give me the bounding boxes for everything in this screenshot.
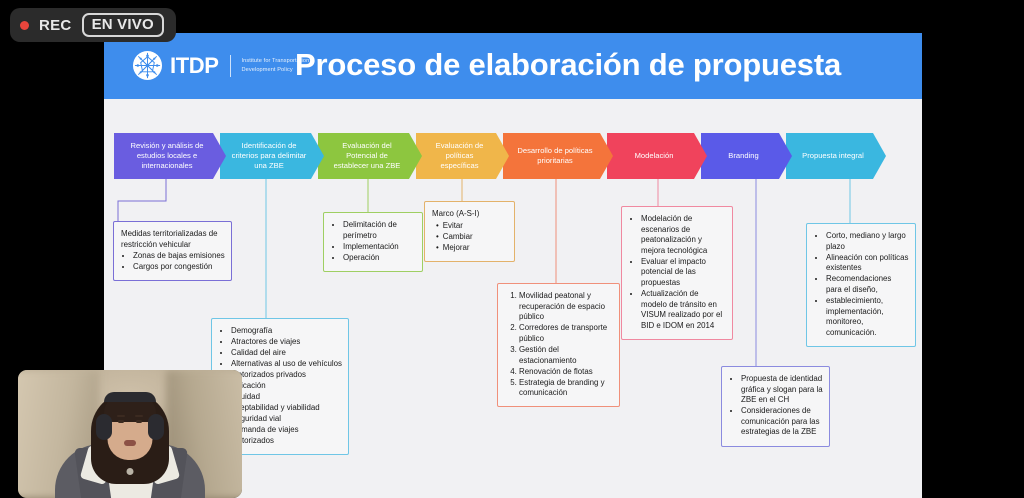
- list-item: Consideraciones de comunicación para las…: [741, 406, 823, 438]
- list-item: Alineación con políticas existentes: [826, 253, 909, 274]
- list-item: Alternativas al uso de vehículos motoriz…: [231, 359, 342, 380]
- detail-box-list: Zonas de bajas emisionesCargos por conge…: [121, 251, 225, 273]
- list-item: Zonas de bajas emisiones: [133, 251, 225, 262]
- list-item: Estrategia de branding y comunicación: [519, 378, 613, 399]
- headphones-band-icon: [104, 392, 156, 402]
- list-item: Aceptabilidad y viabilidad: [231, 403, 342, 414]
- detail-box-list: Movilidad peatonal y recuperación de esp…: [505, 291, 613, 399]
- process-step-label: Desarrollo de políticas prioritarias: [513, 146, 597, 166]
- detail-box-list: Modelación de escenarios de peatonalizac…: [629, 214, 726, 332]
- list-item: Corto, mediano y largo plazo: [826, 231, 909, 252]
- process-step-2: Identificación de criterios para delimit…: [220, 133, 324, 179]
- process-step-8: Propuesta integral: [786, 133, 886, 179]
- list-item: Propuesta de identidad gráfica y slogan …: [741, 374, 823, 406]
- process-step-5: Desarrollo de políticas prioritarias: [503, 133, 613, 179]
- list-item: Evitar: [436, 221, 508, 232]
- process-step-label: Revisión y análisis de estudios locales …: [124, 141, 210, 171]
- process-step-label: Identificación de criterios para delimit…: [230, 141, 308, 171]
- presenter-brow-left: [117, 415, 125, 417]
- list-item: Mejorar: [436, 243, 508, 254]
- detail-box-propuesta-integral: Corto, mediano y largo plazoAlineación c…: [806, 223, 916, 347]
- list-item: Cargos por congestión: [133, 262, 225, 273]
- presenter-necklace-pendant: [127, 468, 134, 475]
- slide-header-band: ITDP Institute for Transportation & Deve…: [104, 33, 922, 99]
- presenter-video-tile[interactable]: [18, 370, 242, 498]
- list-item: Corredores de transporte público: [519, 323, 613, 344]
- process-step-label: Branding: [728, 151, 758, 161]
- detail-box-marco-asi: Marco (A-S-I)EvitarCambiarMejorar: [424, 201, 515, 262]
- list-item: Demanda de viajes motorizados: [231, 425, 342, 446]
- list-item: Evaluar el impacto potencial de las prop…: [641, 257, 726, 289]
- detail-box-list: Corto, mediano y largo plazoAlineación c…: [814, 231, 909, 338]
- presenter-brow-right: [135, 415, 143, 417]
- list-item: Actualización de modelo de tránsito en V…: [641, 289, 726, 331]
- record-dot-icon: [20, 21, 29, 30]
- process-step-1: Revisión y análisis de estudios locales …: [114, 133, 226, 179]
- detail-box-list: Propuesta de identidad gráfica y slogan …: [729, 374, 823, 438]
- process-step-chevron-row: Revisión y análisis de estudios locales …: [114, 133, 880, 179]
- list-item: Seguridad vial: [231, 414, 342, 425]
- rec-label: REC: [39, 17, 72, 34]
- process-step-label: Evaluación del Potencial de establecer u…: [328, 141, 406, 171]
- detail-box-intro: Marco (A-S-I): [432, 209, 508, 220]
- list-item: Demografía: [231, 326, 342, 337]
- list-item: Implementación: [343, 242, 416, 253]
- process-step-label: Propuesta integral: [802, 151, 864, 161]
- list-item: Renovación de flotas: [519, 367, 613, 378]
- process-step-label: Evaluación de políticas específicas: [426, 141, 493, 171]
- recording-status-badge: REC EN VIVO: [10, 8, 176, 42]
- detail-box-list: EvitarCambiarMejorar: [432, 221, 508, 254]
- list-item: Atractores de viajes: [231, 337, 342, 348]
- list-item: Ubicación: [231, 381, 342, 392]
- detail-box-potencial: Delimitación de perímetroImplementaciónO…: [323, 212, 423, 272]
- process-step-6: Modelación: [607, 133, 707, 179]
- list-item: Calidad del aire: [231, 348, 342, 359]
- process-step-3: Evaluación del Potencial de establecer u…: [318, 133, 422, 179]
- process-step-4: Evaluación de políticas específicas: [416, 133, 509, 179]
- slide-title: Proceso de elaboración de propuesta: [104, 47, 922, 83]
- detail-box-intro: Medidas territorializadas de restricción…: [121, 229, 225, 250]
- detail-box-medidas: Medidas territorializadas de restricción…: [113, 221, 232, 281]
- presenter-eye-right: [136, 420, 142, 423]
- headphone-cup-left-icon: [96, 414, 112, 440]
- list-item: Gestión del estacionamiento: [519, 345, 613, 366]
- presenter-mouth: [124, 440, 136, 446]
- list-item: Modelación de escenarios de peatonalizac…: [641, 214, 726, 256]
- list-item: Recomendaciones para el diseño,: [826, 274, 909, 295]
- detail-box-modelacion: Modelación de escenarios de peatonalizac…: [621, 206, 733, 340]
- list-item: Delimitación de perímetro: [343, 220, 416, 241]
- list-item: Operación: [343, 253, 416, 264]
- detail-box-list: Delimitación de perímetroImplementaciónO…: [331, 220, 416, 263]
- list-item: establecimiento, implementación, monitor…: [826, 296, 909, 338]
- process-step-label: Modelación: [635, 151, 674, 161]
- list-item: Equidad: [231, 392, 342, 403]
- detail-box-branding: Propuesta de identidad gráfica y slogan …: [721, 366, 830, 447]
- process-step-7: Branding: [701, 133, 792, 179]
- detail-box-politicas-prioritarias: Movilidad peatonal y recuperación de esp…: [497, 283, 620, 407]
- presenter-eye-left: [118, 420, 124, 423]
- list-item: Movilidad peatonal y recuperación de esp…: [519, 291, 613, 323]
- live-badge: EN VIVO: [82, 13, 164, 37]
- headphone-cup-right-icon: [148, 414, 164, 440]
- list-item: Cambiar: [436, 232, 508, 243]
